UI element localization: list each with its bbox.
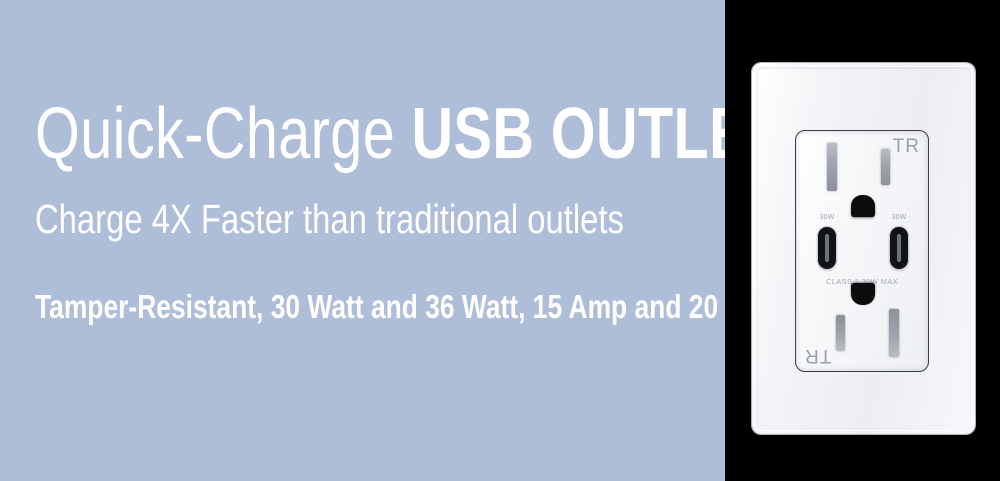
usb-right-watt-label: 30W [892, 214, 907, 221]
outlet-device-face: TR TR 30W 30W [795, 130, 929, 372]
ac-slot-hot-icon [837, 315, 846, 351]
usb-c-shell-icon [890, 227, 908, 269]
tagline: Tamper-Resistant, 30 Watt and 36 Watt, 1… [35, 288, 571, 326]
ac-slot-neutral-icon [889, 309, 899, 357]
usb-c-tongue-icon [825, 234, 829, 262]
ac-ground-pin-icon [851, 283, 875, 305]
wall-plate: TR TR 30W 30W [752, 63, 975, 434]
headline: Quick-Charge USB OUTLETS [35, 96, 571, 172]
ac-ground-pin-icon [851, 195, 875, 217]
copy-block: Quick-Charge USB OUTLETS Charge 4X Faste… [35, 96, 705, 326]
usb-c-tongue-icon [897, 234, 901, 262]
usb-c-shell-icon [818, 227, 836, 269]
headline-light-part: Quick-Charge [35, 94, 412, 174]
subheadline: Charge 4X Faster than traditional outlet… [35, 196, 571, 242]
ac-slot-neutral-icon [827, 143, 837, 191]
usb-left-watt-label: 30W [820, 214, 835, 221]
ac-receptacle-top [796, 139, 929, 213]
right-product-panel: TR TR 30W 30W [725, 0, 1000, 481]
ac-receptacle-bottom [796, 287, 929, 361]
ac-slot-hot-icon [881, 149, 890, 185]
left-copy-panel: Quick-Charge USB OUTLETS Charge 4X Faste… [0, 0, 725, 481]
promo-banner: Quick-Charge USB OUTLETS Charge 4X Faste… [0, 0, 1000, 481]
usb-c-port-left: 30W [818, 227, 836, 269]
usb-c-port-right: 30W [890, 227, 908, 269]
